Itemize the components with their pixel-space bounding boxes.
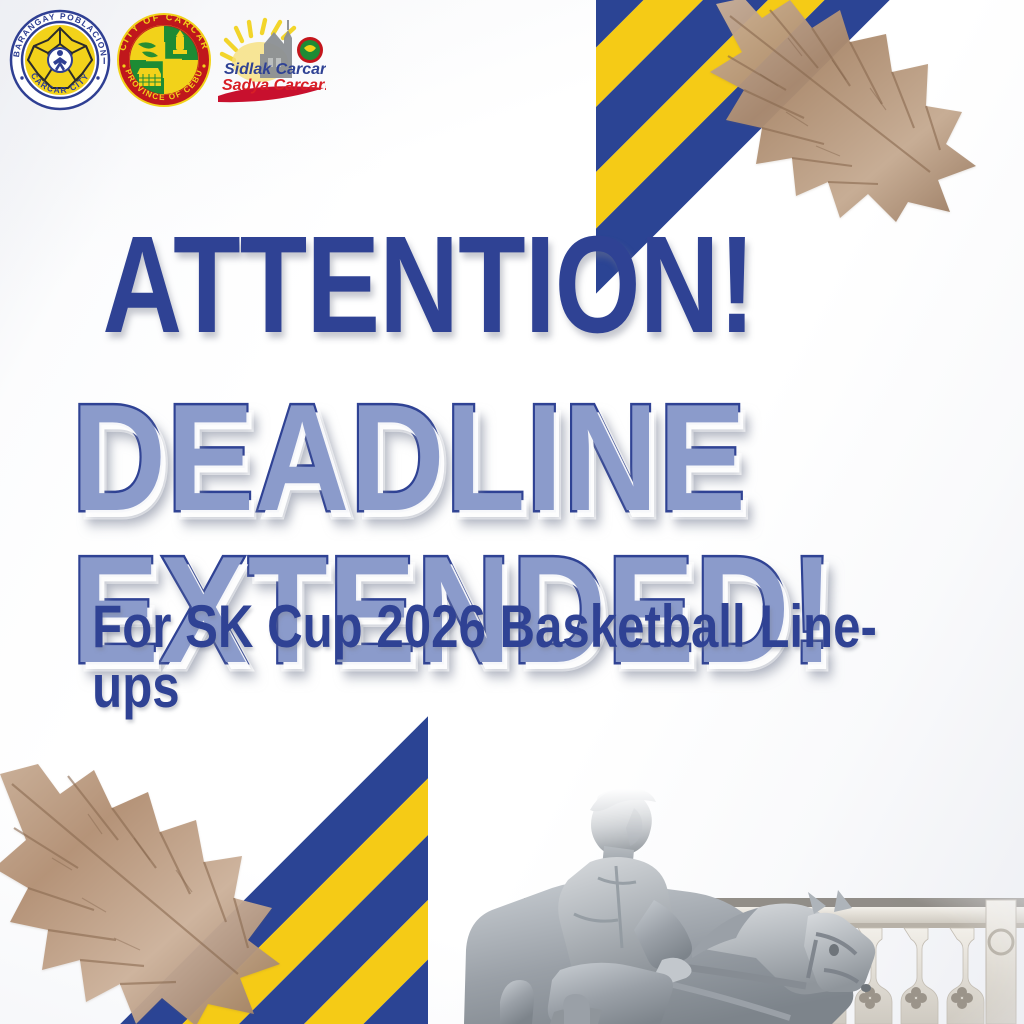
rider-figure [548,788,692,1024]
poster-canvas: DEADLINE EXTENDED! ATTENTION! DEADLINE E… [0,0,1024,1024]
page-headline: ATTENTION! [102,216,921,354]
logo-sidlak-carcar: Sidlak Carcar! Sadya Carcar! [216,14,326,111]
dried-leaf-top-right [700,0,1000,224]
dried-leaf-bottom-left [0,758,290,1024]
logo-barangay-poblacion-seal: BARANGAY POBLACION CARCAR CITY I [8,8,112,117]
sidlak-tagline-line1: Sidlak Carcar! [224,61,326,78]
page-subtitle: For SK Cup 2026 Basketball Line-ups [92,597,932,717]
logo-row: BARANGAY POBLACION CARCAR CITY I [8,8,326,117]
monument-illustration [268,774,1024,1024]
logo-city-of-carcar-seal: CITY OF CARCAR PROVINCE OF CEBU [116,12,212,113]
barangay-seal-numeral: I [103,56,106,66]
sidlak-tagline-line2: Sadya Carcar! [222,77,326,94]
